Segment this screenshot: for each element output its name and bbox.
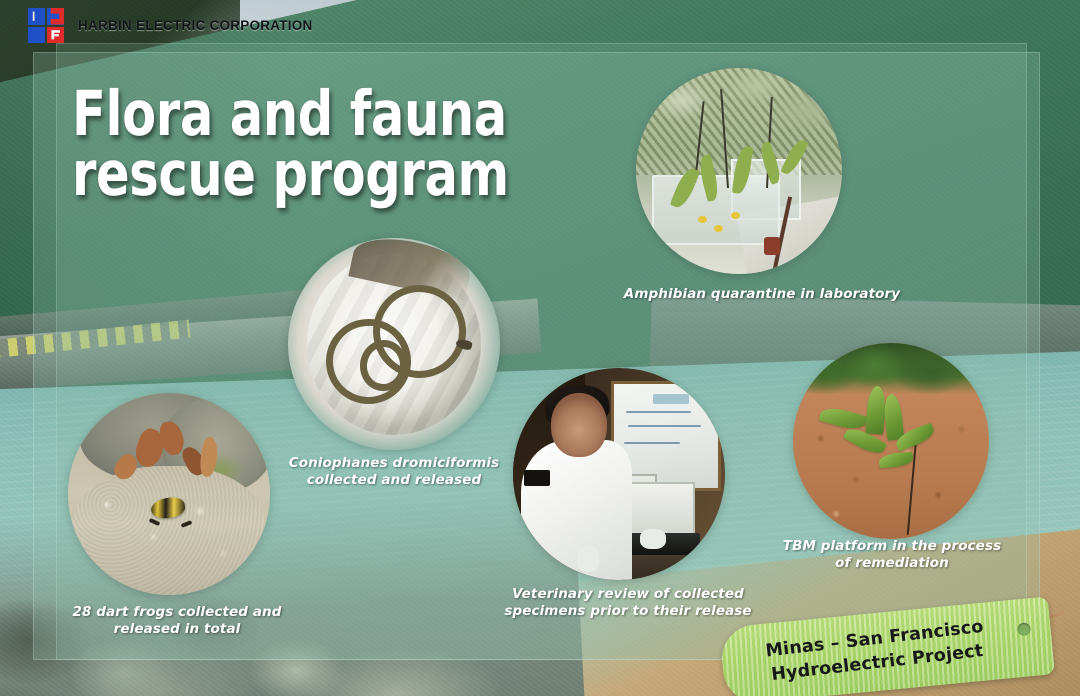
logo-block-bottom-left — [28, 27, 45, 44]
slide-root: HARBIN ELECTRIC CORPORATION Flora and fa… — [0, 0, 1080, 696]
photo-vet-glove-left — [577, 546, 599, 572]
photo-snake-released — [288, 238, 500, 450]
photo-lab-base — [636, 68, 842, 274]
photo-tbm-platform — [793, 343, 989, 539]
company-name: HARBIN ELECTRIC CORPORATION — [78, 18, 313, 33]
photo-vet-board-line-1 — [626, 411, 691, 413]
caption-dart-frog: 28 dart frogs collected and released in … — [58, 604, 296, 638]
caption-snake-released: Coniophanes dromiciformis collected and … — [286, 455, 502, 489]
photo-amphibian-quarantine — [636, 68, 842, 274]
photo-lab-flower-3 — [731, 212, 740, 219]
photo-vet-board-line-4 — [653, 394, 688, 404]
photo-lab-flower-2 — [714, 225, 723, 232]
harbin-electric-logo-icon — [28, 8, 64, 43]
photo-frog-gravel — [72, 466, 266, 595]
photo-vet-glove-right — [640, 529, 666, 549]
photo-tbm-base — [793, 343, 989, 539]
logo-block-bottom-right — [47, 27, 64, 44]
caption-veterinary-review: Veterinary review of collected specimens… — [498, 586, 758, 620]
photo-snake-base — [288, 238, 500, 450]
photo-veterinary-review — [513, 368, 725, 580]
photo-frog-base — [68, 393, 270, 595]
logo-block-top-right — [47, 8, 64, 25]
photo-lab-valve — [764, 237, 780, 255]
photo-vet-face — [551, 393, 607, 457]
photo-vet-base — [513, 368, 725, 580]
photo-vet-board-line-2 — [628, 425, 701, 427]
header-brand: HARBIN ELECTRIC CORPORATION — [28, 8, 313, 43]
photo-dart-frog — [68, 393, 270, 595]
photo-vet-board-line-3 — [624, 442, 680, 444]
logo-block-top-left — [28, 8, 45, 25]
page-title: Flora and fauna rescue program — [72, 84, 509, 204]
caption-amphibian-quarantine: Amphibian quarantine in laboratory — [612, 286, 912, 303]
caption-tbm-platform: TBM platform in the process of remediati… — [772, 538, 1012, 572]
photo-vet-shoulder-badge — [524, 470, 550, 486]
